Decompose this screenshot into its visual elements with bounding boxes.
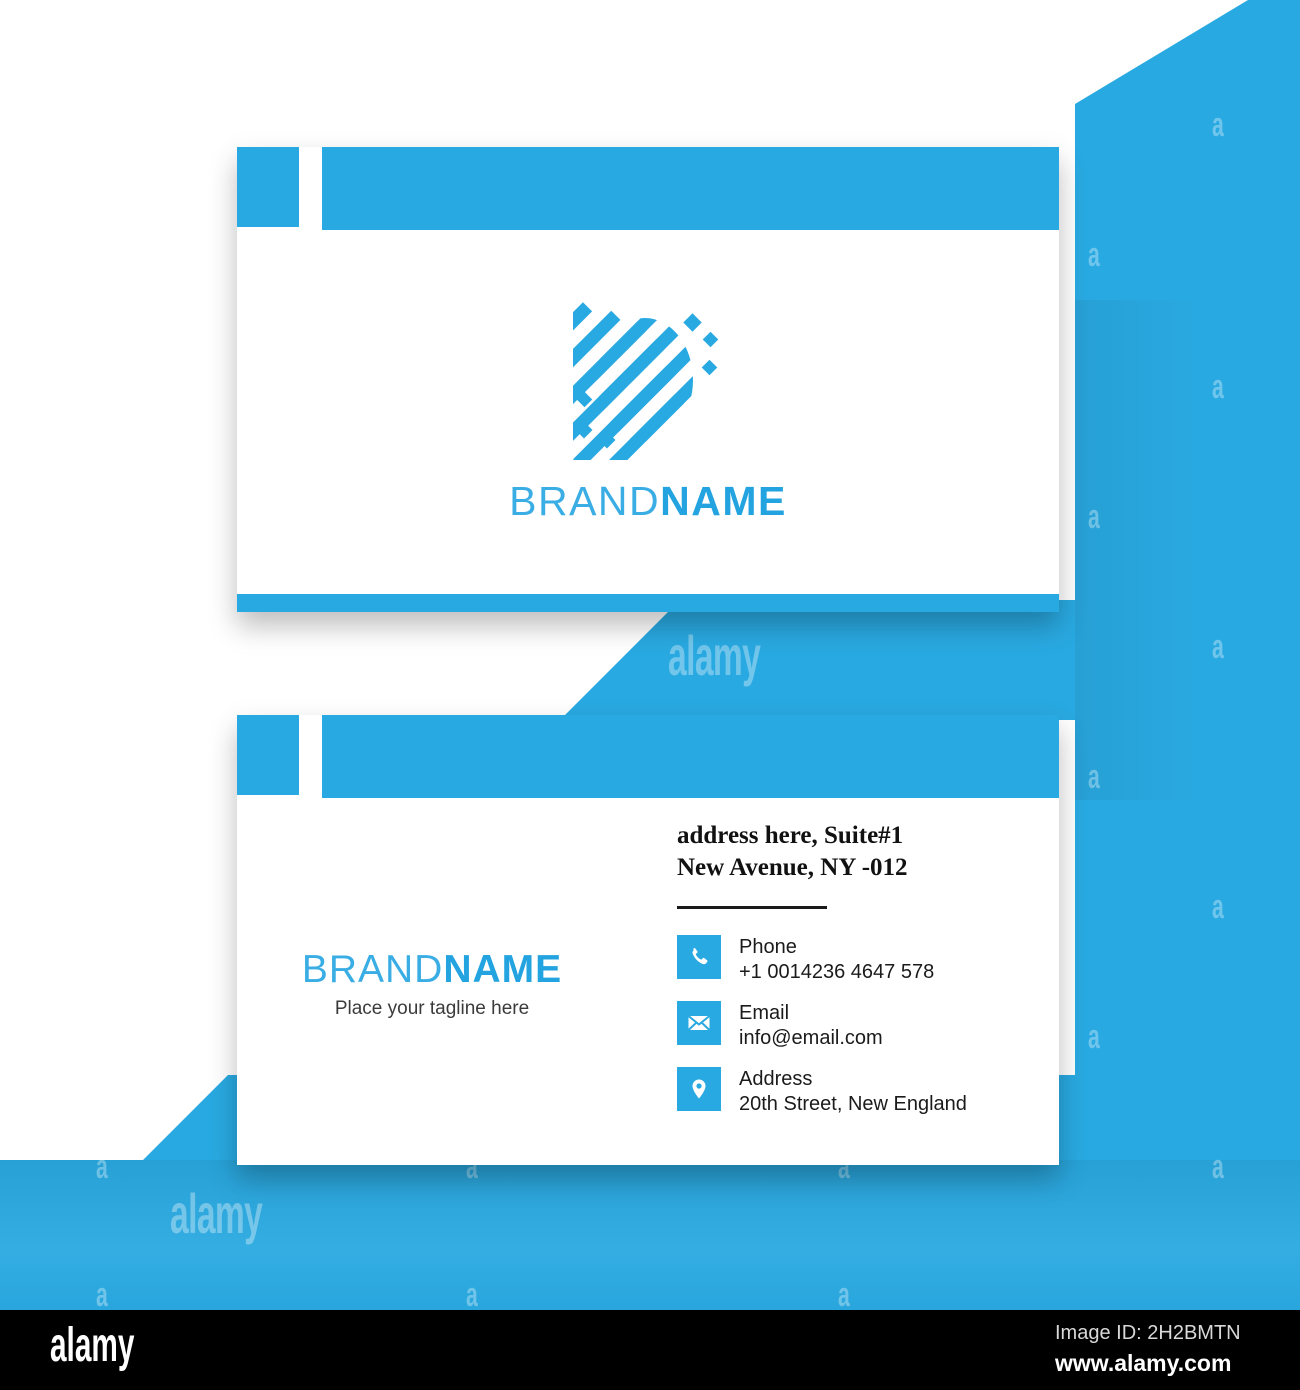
front-footer-bar [237, 594, 1059, 612]
address-line-1: address here, Suite#1 [677, 820, 1037, 852]
contact-label-address: Address [739, 1068, 967, 1092]
alamy-logo: alamy [50, 1322, 134, 1370]
front-brand-name: BRANDNAME [509, 478, 787, 525]
brand-logo [573, 300, 723, 460]
contact-value-email: info@email.com [739, 1026, 883, 1050]
business-card-back: BRANDNAME Place your tagline here addres… [237, 715, 1059, 1165]
front-brand-part1: BRAND [509, 478, 660, 524]
contact-text-email: Email info@email.com [739, 1001, 883, 1050]
contact-value-phone: +1 0014236 4647 578 [739, 960, 934, 984]
back-header-tab [237, 715, 299, 795]
back-brand-name: BRANDNAME [237, 948, 627, 992]
back-tagline: Place your tagline here [237, 998, 627, 1020]
back-contact-block: address here, Suite#1 New Avenue, NY -01… [677, 820, 1037, 1133]
poster-canvas: a a a a a a a a a a a a a a a a a a alam… [0, 0, 1300, 1390]
business-card-front: BRANDNAME [237, 147, 1059, 612]
background-shape-middle [560, 600, 1100, 720]
back-header-bar [322, 715, 1059, 798]
phone-icon [677, 935, 721, 979]
striped-ellipse-logo-icon [573, 300, 723, 460]
image-id-label: Image ID: 2H2BMTN [1055, 1323, 1241, 1343]
contact-row-phone: Phone +1 0014236 4647 578 [677, 935, 1037, 984]
contact-label-email: Email [739, 1002, 883, 1026]
divider-rule [677, 906, 827, 909]
alamy-footer-bar: alamy Image ID: 2H2BMTN www.alamy.com [0, 1310, 1300, 1390]
back-brand-part1: BRAND [302, 948, 444, 991]
back-content: BRANDNAME Place your tagline here addres… [237, 798, 1059, 1165]
back-brand-part2: NAME [443, 948, 562, 991]
background-shape-bottom-band [0, 1160, 1300, 1310]
location-pin-icon [677, 1067, 721, 1111]
contact-row-email: Email info@email.com [677, 1001, 1037, 1050]
envelope-icon [677, 1001, 721, 1045]
front-header-bar [322, 147, 1059, 230]
back-brand-block: BRANDNAME Place your tagline here [237, 948, 627, 1020]
contact-text-address: Address 20th Street, New England [739, 1067, 967, 1116]
contact-row-address: Address 20th Street, New England [677, 1067, 1037, 1116]
front-header-tab [237, 147, 299, 227]
front-brand-part2: NAME [660, 478, 787, 524]
alamy-url-label: www.alamy.com [1055, 1352, 1231, 1375]
contact-text-phone: Phone +1 0014236 4647 578 [739, 935, 934, 984]
front-content: BRANDNAME [237, 230, 1059, 594]
contact-label-phone: Phone [739, 936, 934, 960]
address-line-2: New Avenue, NY -012 [677, 852, 1037, 884]
contact-value-address: 20th Street, New England [739, 1092, 967, 1116]
